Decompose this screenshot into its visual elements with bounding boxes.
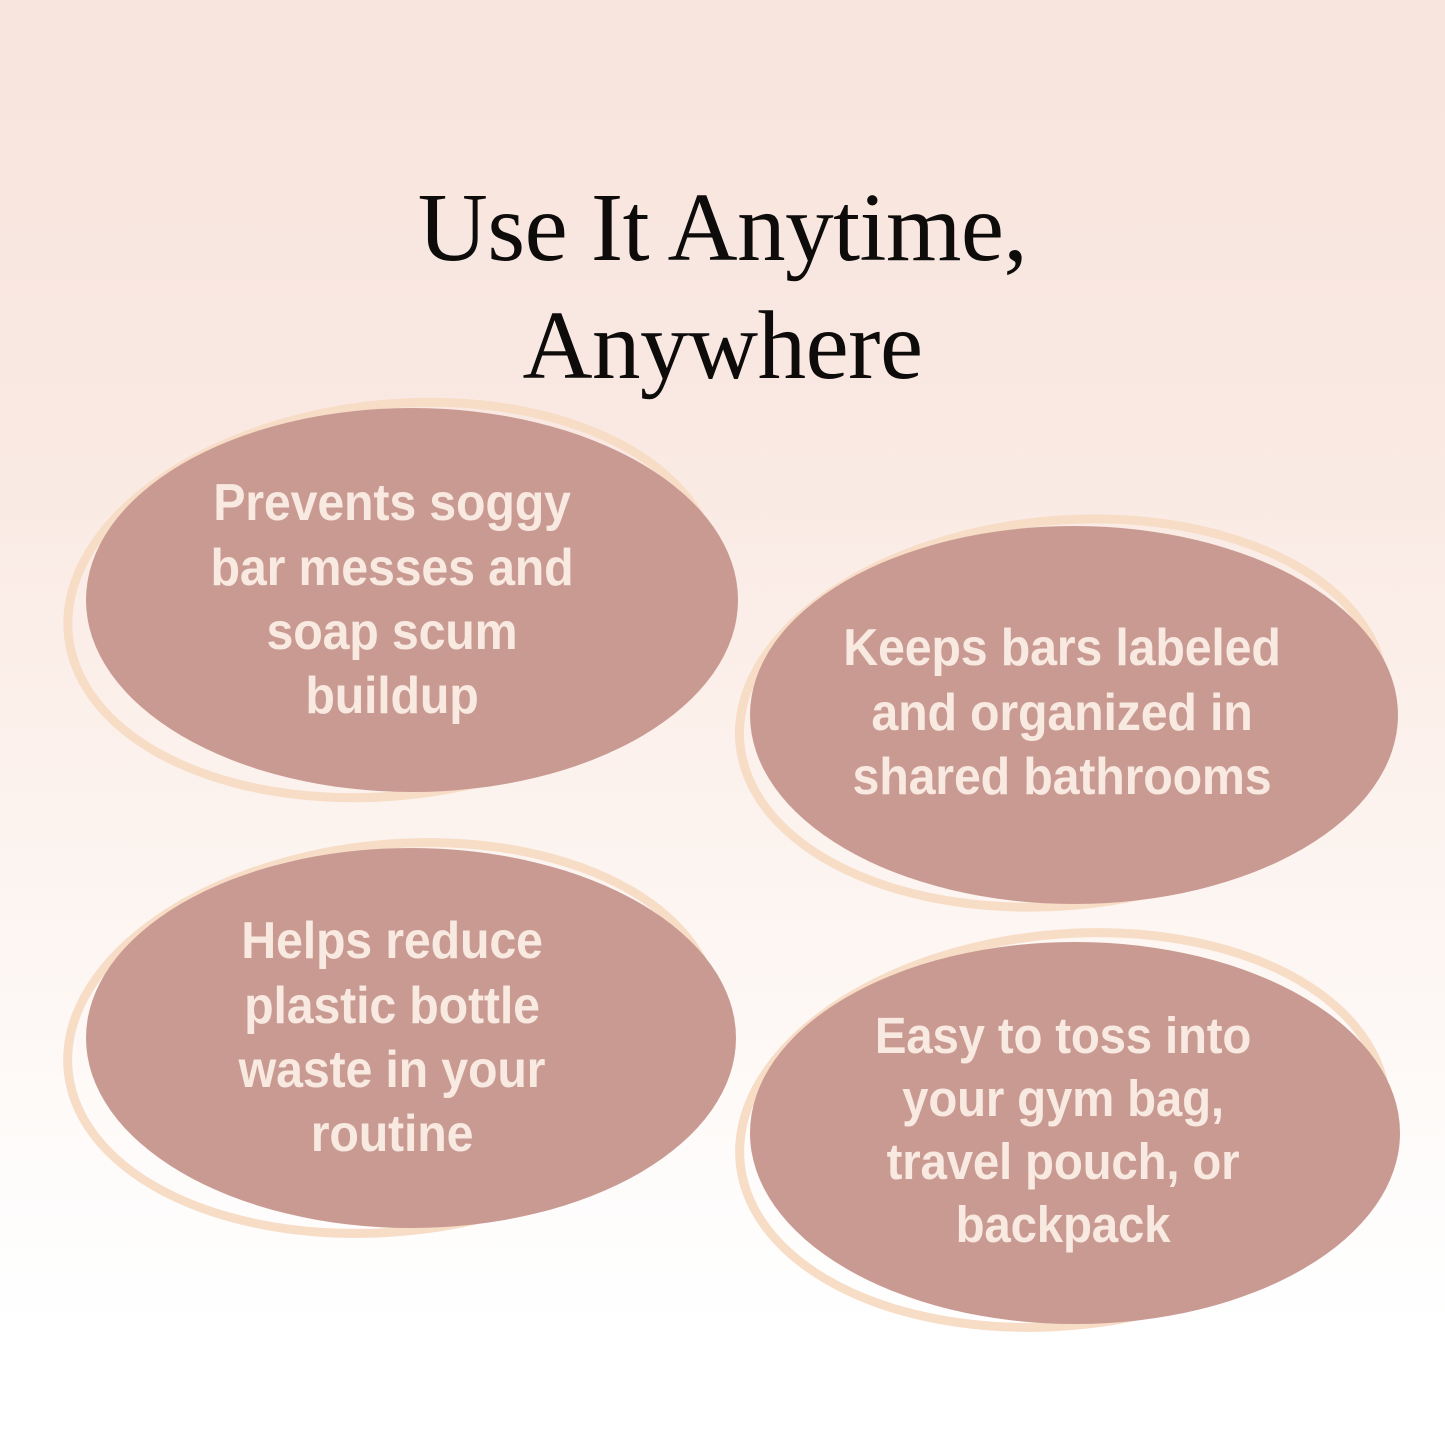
benefit-oval-reduce-plastic-bottle-waste: Helps reduce plastic bottle waste in you… bbox=[62, 840, 722, 1236]
benefit-oval-prevents-soggy-bar-messes: Prevents soggy bar messes and soap scum … bbox=[62, 400, 722, 800]
benefit-text: Prevents soggy bar messes and soap scum … bbox=[85, 400, 699, 800]
page-title: Use It Anytime, Anywhere bbox=[0, 169, 1445, 406]
benefit-text: Keeps bars labeled and organized in shar… bbox=[757, 516, 1367, 910]
benefit-text: Helps reduce plastic bottle waste in you… bbox=[85, 840, 699, 1236]
benefit-oval-easy-to-toss-into-bag: Easy to toss into your gym bag, travel p… bbox=[734, 930, 1392, 1330]
benefit-oval-keeps-bars-labeled: Keeps bars labeled and organized in shar… bbox=[734, 516, 1390, 910]
promo-poster: Use It Anytime, Anywhere Prevents soggy … bbox=[0, 0, 1445, 1445]
benefit-text: Easy to toss into your gym bag, travel p… bbox=[757, 930, 1369, 1330]
